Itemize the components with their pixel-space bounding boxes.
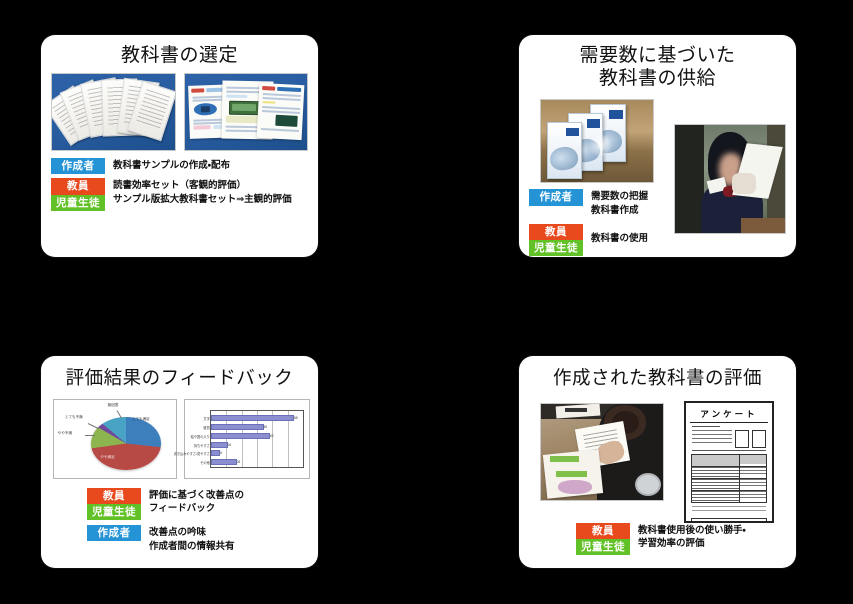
selection-photo-row bbox=[41, 73, 318, 151]
role-description: 教科書サンプルの作成・配布 bbox=[105, 158, 230, 173]
pie-label-somewhat-dissatisfied: やや不満 bbox=[58, 432, 72, 436]
student-reading-photo-content bbox=[675, 125, 785, 233]
bar-category-label: 紙質 bbox=[203, 425, 209, 430]
role-description: 評価に基づく改善点の フィードバック bbox=[141, 488, 244, 517]
textbook-spread-photo-content bbox=[185, 74, 307, 150]
role-tags: 教員 児童生徒 bbox=[576, 523, 630, 555]
role-row: 教員 児童生徒 教科書の使用 bbox=[529, 224, 679, 256]
role-tags: 教員 児童生徒 bbox=[529, 224, 583, 256]
evaluation-media-area: アンケート bbox=[519, 399, 796, 521]
pie-label-very-dissatisfied: とても不満 bbox=[65, 416, 83, 420]
student-reading-photo bbox=[674, 124, 786, 234]
role-tags: 教員 児童生徒 bbox=[87, 488, 141, 520]
textbooks-on-desk-photo-content bbox=[541, 100, 653, 182]
bar-category-label: その他 bbox=[200, 460, 210, 465]
bar-item: 持ちやすさ 16 bbox=[211, 442, 228, 448]
tag-author: 作成者 bbox=[87, 525, 141, 541]
role-row: 作成者 需要数の把握 教科書作成 bbox=[529, 189, 679, 218]
bar-category-label: 文字 bbox=[203, 416, 209, 421]
pie-graphic bbox=[91, 417, 162, 470]
role-tags: 教員 児童生徒 bbox=[51, 178, 105, 210]
role-tags: 作成者 bbox=[87, 525, 141, 541]
role-tags: 作成者 bbox=[529, 189, 583, 205]
panel-title-supply: 需要数に基づいた 教科書の供給 bbox=[525, 44, 790, 90]
panel-title-selection: 教科書の選定 bbox=[47, 44, 312, 67]
bar-item: その他 26 bbox=[211, 459, 237, 465]
student-writing-survey-photo bbox=[540, 403, 664, 501]
bar-item: 書き込みやすさ・見やすさ 8 bbox=[211, 450, 220, 456]
bar-value-label: 8 bbox=[220, 451, 222, 455]
panel-title-feedback: 評価結果のフィードバック bbox=[47, 367, 312, 390]
student-writing-survey-photo-content bbox=[541, 404, 663, 500]
role-description: 需要数の把握 教科書作成 bbox=[583, 189, 648, 218]
panel-title-evaluation: 作成された教科書の評価 bbox=[525, 367, 790, 390]
role-row: 教員 児童生徒 評価に基づく改善点の フィードバック bbox=[87, 488, 318, 520]
booklet-samples-photo-content bbox=[52, 74, 175, 150]
supply-role-list: 作成者 需要数の把握 教科書作成 教員 児童生徒 教科書の使用 bbox=[519, 182, 679, 257]
textbooks-on-desk-photo bbox=[540, 99, 654, 183]
textbook-spread-photo bbox=[184, 73, 308, 151]
questionnaire-form-image: アンケート bbox=[684, 401, 774, 523]
tag-student: 児童生徒 bbox=[87, 504, 141, 520]
bar-item: 紙質 55 bbox=[211, 424, 264, 430]
bar-item: 絵や図の入り 62 bbox=[211, 433, 270, 439]
pie-label-very-satisfied: とても満足 bbox=[132, 418, 150, 422]
role-row: 作成者 教科書サンプルの作成・配布 bbox=[51, 158, 318, 174]
feedback-role-list: 教員 児童生徒 評価に基づく改善点の フィードバック 作成者 改善点の吟味 作成… bbox=[41, 479, 318, 554]
pie-leader-line bbox=[85, 435, 96, 436]
tag-teacher: 教員 bbox=[51, 178, 105, 194]
panel-textbook-supply: 需要数に基づいた 教科書の供給 bbox=[519, 35, 796, 257]
role-tags: 作成者 bbox=[51, 158, 105, 174]
bar-category-label: 持ちやすさ bbox=[194, 443, 210, 448]
evaluation-bar-chart: 文字 88 紙質 55 絵や図の入り 62 持ちやすさ 16 書き込みやすさ・見… bbox=[184, 399, 310, 479]
tag-author: 作成者 bbox=[529, 189, 583, 205]
questionnaire-free-comment-box bbox=[691, 518, 767, 523]
tag-teacher: 教員 bbox=[87, 488, 141, 504]
tag-teacher: 教員 bbox=[576, 523, 630, 539]
role-row: 教員 児童生徒 読書効率セット（客観的評価） サンプル版拡大教科書セット⇒主観的… bbox=[51, 178, 318, 210]
questionnaire-title: アンケート bbox=[690, 408, 768, 423]
questionnaire-intro-row bbox=[692, 430, 766, 448]
feedback-chart-row: とても満足 やや満足 やや不満 とても不満 無回答 文字 88 bbox=[41, 399, 318, 479]
bar-category-label: 書き込みやすさ・見やすさ bbox=[174, 451, 210, 456]
evaluation-role-list: 教員 児童生徒 教科書使用後の使い勝手・ 学習効率の評価 bbox=[519, 521, 796, 555]
tag-teacher: 教員 bbox=[529, 224, 583, 240]
panel-created-textbook-evaluation: 作成された教科書の評価 アンケート bbox=[519, 356, 796, 568]
tag-author: 作成者 bbox=[51, 158, 105, 174]
tag-student: 児童生徒 bbox=[576, 539, 630, 555]
pie-slices bbox=[91, 417, 162, 470]
panel-textbook-selection: 教科書の選定 bbox=[41, 35, 318, 257]
bar-category-label: 絵や図の入り bbox=[191, 434, 210, 439]
role-row: 作成者 改善点の吟味 作成者間の情報共有 bbox=[87, 525, 318, 554]
bar-value-label: 62 bbox=[270, 434, 274, 438]
pie-label-somewhat-satisfied: やや満足 bbox=[100, 456, 114, 460]
tag-student: 児童生徒 bbox=[51, 195, 105, 211]
role-row: 教員 児童生徒 教科書使用後の使い勝手・ 学習効率の評価 bbox=[576, 523, 796, 555]
bar-value-label: 55 bbox=[264, 425, 268, 429]
pie-label-no-answer: 無回答 bbox=[108, 404, 119, 408]
bar-value-label: 88 bbox=[294, 416, 298, 420]
role-description: 改善点の吟味 作成者間の情報共有 bbox=[141, 525, 235, 554]
satisfaction-pie-chart: とても満足 やや満足 やや不満 とても不満 無回答 bbox=[53, 399, 177, 479]
role-description: 読書効率セット（客観的評価） サンプル版拡大教科書セット⇒主観的評価 bbox=[105, 178, 292, 207]
supply-media-area: 作成者 需要数の把握 教科書作成 教員 児童生徒 教科書の使用 bbox=[519, 96, 796, 236]
booklet-samples-photo bbox=[51, 73, 176, 151]
bar-value-label: 16 bbox=[228, 443, 232, 447]
bar-value-label: 26 bbox=[237, 460, 241, 464]
tag-student: 児童生徒 bbox=[529, 240, 583, 256]
questionnaire-grid bbox=[691, 454, 767, 503]
bar-plot-area: 文字 88 紙質 55 絵や図の入り 62 持ちやすさ 16 書き込みやすさ・見… bbox=[210, 410, 304, 468]
panel-evaluation-feedback: 評価結果のフィードバック とても満足 やや満足 やや不満 とても不満 無回答 bbox=[41, 356, 318, 568]
role-description: 教科書使用後の使い勝手・ 学習効率の評価 bbox=[630, 523, 746, 552]
role-description: 教科書の使用 bbox=[583, 224, 648, 246]
bar-item: 文字 88 bbox=[211, 415, 294, 421]
selection-role-list: 作成者 教科書サンプルの作成・配布 教員 児童生徒 読書効率セット（客観的評価）… bbox=[41, 151, 318, 211]
